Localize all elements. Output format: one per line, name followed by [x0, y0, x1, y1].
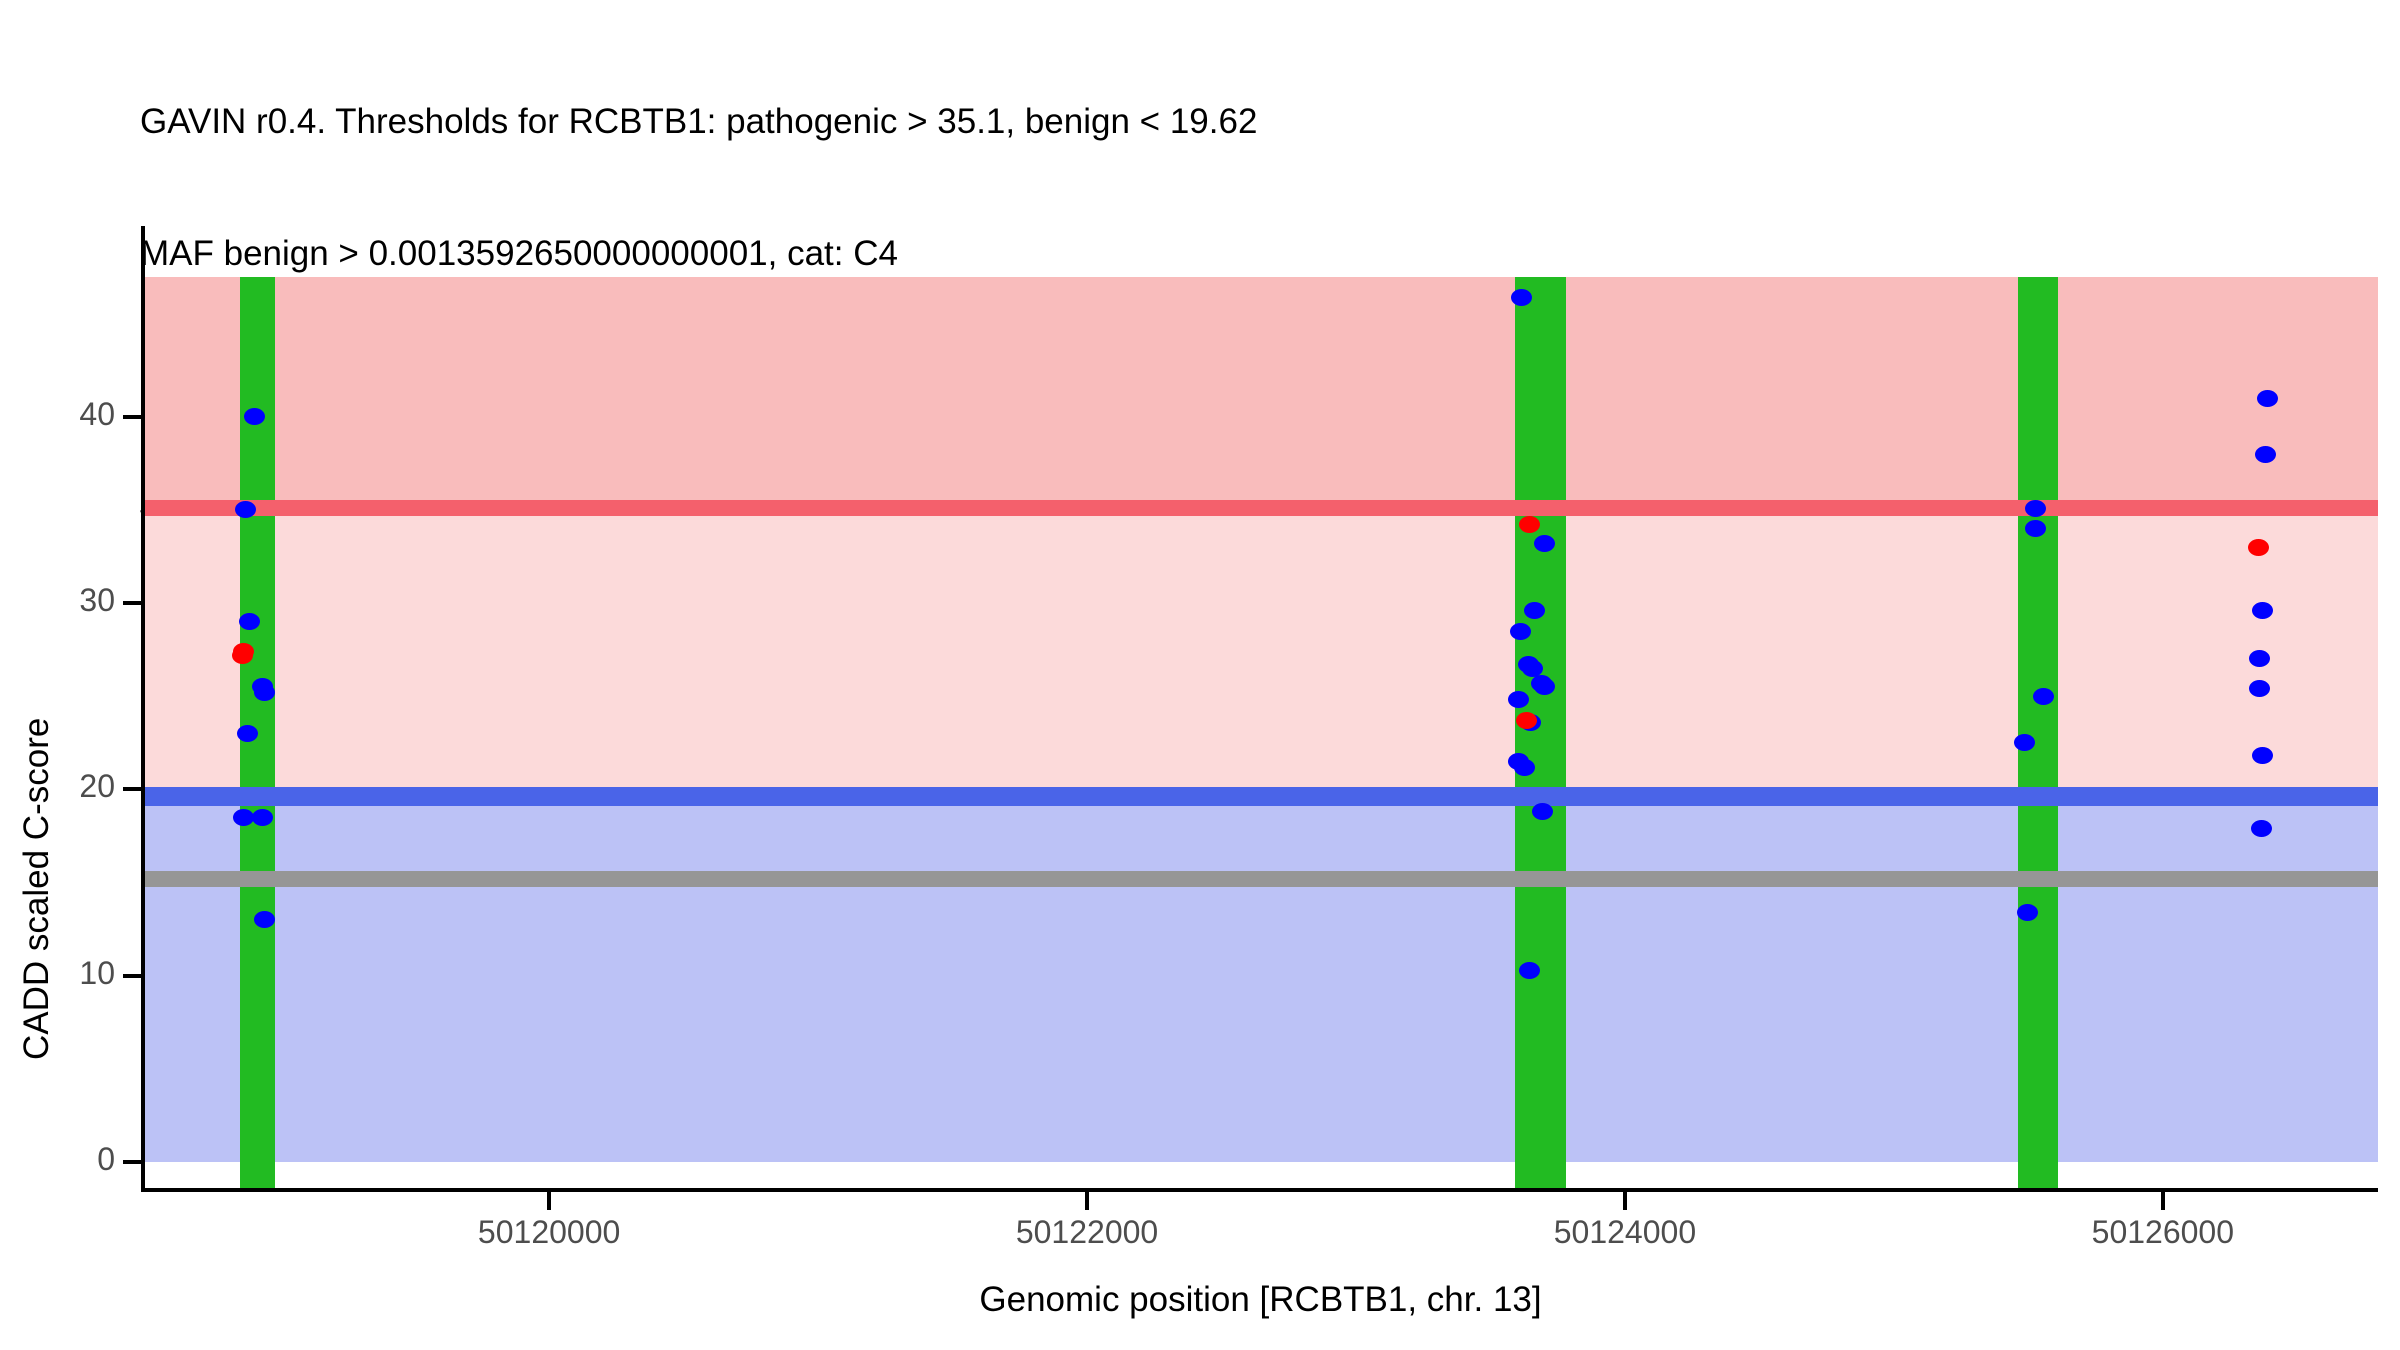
gnomad-variant-point — [252, 809, 273, 826]
gnomad-variant-point — [2257, 390, 2278, 407]
x-axis-title: Genomic position [RCBTB1, chr. 13] — [143, 1280, 2378, 1320]
gnomad-variant-point — [1511, 289, 1532, 306]
y-tick-30 — [123, 601, 141, 605]
gnomad-variant-point — [254, 911, 275, 928]
title-line-2: MAF benign > 0.0013592650000000001, cat:… — [140, 232, 2380, 276]
x-tick-50126000 — [2161, 1192, 2165, 1210]
x-tick-50122000 — [1085, 1192, 1089, 1210]
x-axis-line — [141, 1188, 2378, 1192]
gnomad-variant-point — [1514, 759, 1535, 776]
title-line-1: GAVIN r0.4. Thresholds for RCBTB1: patho… — [140, 100, 2380, 144]
pathogenic-variant-point — [2248, 539, 2269, 556]
gnomad-variant-point — [2017, 904, 2038, 921]
plot-panel — [143, 277, 2378, 1190]
benign-threshold-line — [143, 787, 2378, 807]
x-tick-50120000 — [547, 1192, 551, 1210]
gnomad-variant-point — [2251, 820, 2272, 837]
y-tick-0 — [123, 1160, 141, 1164]
x-tick-label-50126000: 50126000 — [2092, 1214, 2234, 1251]
x-tick-label-50124000: 50124000 — [1554, 1214, 1696, 1251]
gnomad-variant-point — [239, 613, 260, 630]
y-tick-label-0: 0 — [30, 1141, 115, 1178]
exon-2 — [1515, 277, 1566, 1190]
y-axis-line — [141, 226, 145, 1190]
x-tick-label-50122000: 50122000 — [1016, 1214, 1158, 1251]
y-axis-title: CADD scaled C-score — [14, 60, 60, 1060]
plot-figure: GAVIN r0.4. Thresholds for RCBTB1: patho… — [0, 0, 2400, 1350]
x-tick-label-50120000: 50120000 — [478, 1214, 620, 1251]
y-tick-20 — [123, 787, 141, 791]
gnomad-variant-point — [1519, 962, 1540, 979]
gnomad-variant-point — [2255, 446, 2276, 463]
gnomad-variant-point — [2252, 602, 2273, 619]
gnomad-variant-point — [2025, 500, 2046, 517]
gnomad-variant-point — [1534, 535, 1555, 552]
gnomad-variant-point — [2033, 688, 2054, 705]
gnomad-variant-point — [2025, 520, 2046, 537]
gnomad-variant-point — [254, 684, 275, 701]
y-tick-40 — [123, 415, 141, 419]
x-tick-50124000 — [1623, 1192, 1627, 1210]
y-tick-10 — [123, 974, 141, 978]
fallback-threshold-line — [143, 871, 2378, 888]
gnomad-variant-point — [1510, 623, 1531, 640]
